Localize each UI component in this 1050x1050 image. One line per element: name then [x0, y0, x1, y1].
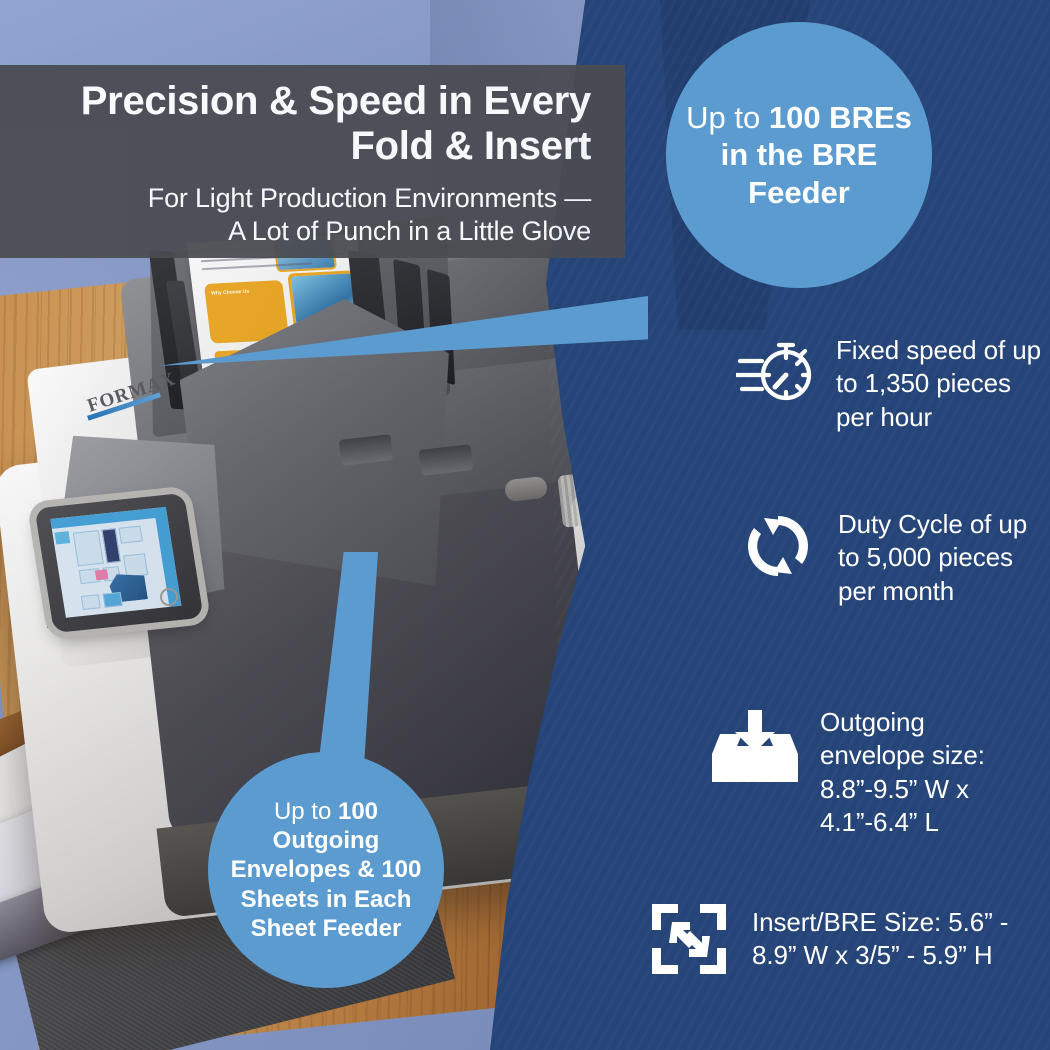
- feature-insert-size-text: Insert/BRE Size: 5.6” - 8.9” W x 3/5” - …: [752, 906, 1048, 973]
- feature-speed: Fixed speed of up to 1,350 pieces per ho…: [736, 334, 1046, 434]
- page-title-line2: Fold & Insert: [34, 124, 591, 169]
- screen-tile[interactable]: [73, 530, 104, 566]
- feature-duty-cycle-text: Duty Cycle of up to 5,000 pieces per mon…: [838, 508, 1028, 608]
- feature-outgoing-envelope-size: Outgoing envelope size: 8.8”-9.5” W x 4.…: [712, 706, 1048, 839]
- screen-header-bar: [50, 507, 167, 529]
- feature-duty-cycle: Duty Cycle of up to 5,000 pieces per mon…: [740, 508, 1046, 608]
- page-title-line1: Precision & Speed in Every: [34, 79, 591, 124]
- duty-cycle-arrows-icon: [740, 508, 816, 584]
- screen-tile[interactable]: [123, 553, 148, 577]
- feature-speed-text: Fixed speed of up to 1,350 pieces per ho…: [836, 334, 1046, 434]
- brochure-callout-title: Why Choose Us: [211, 288, 250, 299]
- screen-back-tab[interactable]: [54, 531, 70, 544]
- screen-tile[interactable]: [103, 592, 123, 608]
- screen-tile[interactable]: [102, 528, 121, 563]
- outgoing-envelopes-bubble: Up to 100 Outgoing Envelopes & 100 Sheet…: [208, 752, 444, 988]
- feature-outgoing-envelope-size-text: Outgoing envelope size: 8.8”-9.5” W x 4.…: [820, 706, 1020, 839]
- envelope-bubble-prefix: Up to: [274, 798, 338, 825]
- feature-insert-size: Insert/BRE Size: 5.6” - 8.9” W x 3/5” - …: [648, 900, 1048, 978]
- screen-tile[interactable]: [81, 594, 101, 610]
- page-subtitle: For Light Production Environments — A Lo…: [34, 182, 591, 250]
- screen-tile[interactable]: [119, 526, 143, 544]
- title-block: Precision & Speed in Every Fold & Insert…: [0, 65, 625, 258]
- outgoing-envelopes-bubble-text: Up to 100 Outgoing Envelopes & 100 Sheet…: [208, 797, 444, 943]
- bre-feeder-bubble-text: Up to 100 BREs in the BRE Feeder: [666, 99, 932, 211]
- outgoing-envelope-tray-icon: [712, 706, 798, 786]
- page-subtitle-line1: For Light Production Environments —: [34, 182, 591, 216]
- screen-highlight: [95, 569, 109, 580]
- page-title: Precision & Speed in Every Fold & Insert: [34, 79, 591, 169]
- screen-home-button[interactable]: [160, 588, 178, 606]
- bre-feeder-bubble: Up to 100 BREs in the BRE Feeder: [666, 22, 932, 288]
- page-subtitle-line2: A Lot of Punch in a Little Glove: [34, 215, 591, 249]
- stopwatch-speed-icon: [736, 334, 814, 406]
- bre-bubble-prefix: Up to: [686, 100, 769, 135]
- machine-touchscreen[interactable]: [34, 493, 203, 633]
- infographic-canvas: YOUR COMPANY ▭▭▭▭▭▭▭▭▭▭▭▭ Why Choose Us …: [0, 0, 1050, 1050]
- insert-size-resize-icon: [648, 900, 730, 978]
